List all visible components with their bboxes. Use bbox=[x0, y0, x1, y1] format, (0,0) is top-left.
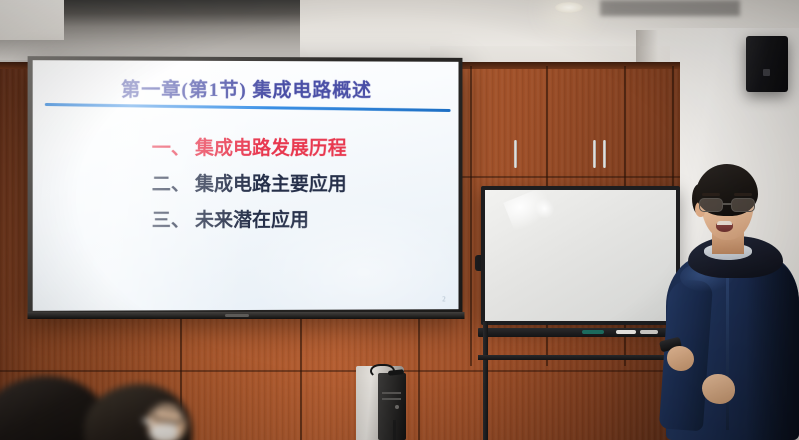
ceiling-beam bbox=[600, 0, 740, 16]
glasses-icon bbox=[698, 198, 758, 212]
slide-bullet-item: 三、 未来潜在应用 bbox=[152, 211, 439, 230]
slide-page-number: 2 bbox=[442, 295, 445, 303]
slide-bullet-item: 一、 集成电路发展历程 bbox=[152, 139, 439, 158]
bullet-text: 集成电路发展历程 bbox=[195, 139, 347, 158]
display-logo bbox=[225, 314, 249, 317]
glasses-lens bbox=[731, 198, 755, 212]
cabinet-handle[interactable] bbox=[514, 140, 517, 168]
recessed-downlight bbox=[555, 2, 583, 13]
presenter-right-hand bbox=[702, 374, 735, 404]
lecture-room-photo: 第一章(第1节) 集成电路概述 一、 集成电路发展历程 二、 集成电路主要应用 … bbox=[0, 0, 799, 440]
slide-bullet-item: 二、 集成电路主要应用 bbox=[152, 175, 439, 194]
whiteboard-marker[interactable] bbox=[616, 330, 636, 334]
face-mask bbox=[150, 424, 178, 440]
drive-slot bbox=[382, 392, 401, 394]
glasses-lens bbox=[699, 198, 723, 212]
cabinet-handle[interactable] bbox=[593, 140, 596, 168]
bullet-number: 二、 bbox=[152, 175, 195, 194]
slide-bullet-list: 一、 集成电路发展历程 二、 集成电路主要应用 三、 未来潜在应用 bbox=[152, 139, 439, 247]
computer-tower bbox=[378, 373, 406, 440]
bullet-text: 集成电路主要应用 bbox=[195, 175, 347, 194]
whiteboard-leg bbox=[483, 322, 488, 440]
presenter-eyebrow bbox=[734, 193, 752, 196]
jacket-shading bbox=[746, 258, 799, 440]
cabinet-seam bbox=[300, 316, 302, 440]
wall-speaker bbox=[746, 36, 788, 92]
cabinet-seam bbox=[470, 66, 472, 366]
left-upper-panel bbox=[0, 0, 64, 40]
presentation-display: 第一章(第1节) 集成电路概述 一、 集成电路发展历程 二、 集成电路主要应用 … bbox=[28, 56, 463, 316]
glasses-bridge bbox=[723, 203, 731, 205]
slide-title: 第一章(第1节) 集成电路概述 bbox=[33, 74, 459, 102]
display-screen: 第一章(第1节) 集成电路概述 一、 集成电路发展历程 二、 集成电路主要应用 … bbox=[33, 60, 459, 311]
presenter bbox=[650, 162, 799, 440]
drive-slot bbox=[382, 398, 401, 400]
whiteboard-surface[interactable] bbox=[485, 190, 676, 321]
title-underline-rule bbox=[45, 103, 451, 111]
cabinet-horizontal-seam bbox=[430, 176, 680, 178]
cabinet-handle[interactable] bbox=[603, 140, 606, 168]
slide-canvas: 第一章(第1节) 集成电路概述 一、 集成电路发展历程 二、 集成电路主要应用 … bbox=[33, 60, 459, 311]
whiteboard-marker[interactable] bbox=[582, 330, 604, 334]
cabinet-horizontal-seam bbox=[0, 370, 680, 372]
presenter-left-hand bbox=[667, 346, 694, 371]
speaker-logo bbox=[763, 69, 770, 76]
power-led bbox=[395, 405, 399, 409]
cabinet-seam bbox=[418, 316, 420, 440]
bullet-text: 未来潜在应用 bbox=[195, 211, 309, 230]
power-wire bbox=[393, 420, 396, 440]
presenter-teeth bbox=[717, 221, 732, 225]
bullet-number: 一、 bbox=[152, 139, 195, 158]
presenter-eyebrow bbox=[702, 193, 720, 196]
jacket-zipper bbox=[726, 272, 729, 430]
bullet-number: 三、 bbox=[152, 211, 195, 230]
